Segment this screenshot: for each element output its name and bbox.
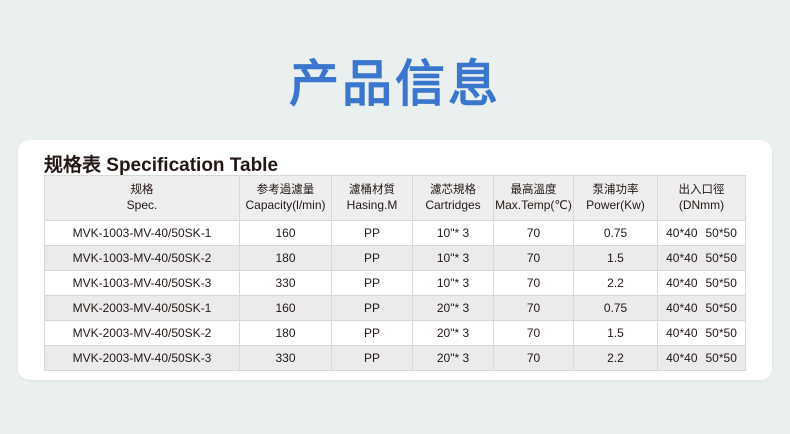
table-header-row: 规格 Spec. 参考過濾量 Capacity(l/min) 濾桶材質 Hasi… — [45, 176, 746, 221]
cell-power: 2.2 — [574, 346, 658, 371]
column-header-dn: 出入口徑 (DNmm) — [658, 176, 746, 221]
cell-cartridges: 20"* 3 — [413, 346, 494, 371]
cell-max-temp: 70 — [494, 221, 574, 246]
cell-dn-b: 50*50 — [706, 326, 737, 340]
cell-spec: MVK-2003-MV-40/50SK-2 — [45, 321, 240, 346]
cell-dn: 40*4050*50 — [658, 221, 746, 246]
column-header-power: 泵浦功率 Power(Kw) — [574, 176, 658, 221]
table-body: MVK-1003-MV-40/50SK-1 160 PP 10"* 3 70 0… — [45, 221, 746, 371]
page-title: 产品信息 — [0, 55, 790, 113]
cell-dn: 40*4050*50 — [658, 296, 746, 321]
cell-power: 2.2 — [574, 271, 658, 296]
cell-spec: MVK-1003-MV-40/50SK-2 — [45, 246, 240, 271]
cell-cartridges: 20"* 3 — [413, 321, 494, 346]
cell-dn-b: 50*50 — [706, 226, 737, 240]
column-header-capacity-cn: 参考過濾量 — [240, 183, 331, 198]
cell-dn-a: 40*40 — [666, 276, 697, 290]
table-row: MVK-1003-MV-40/50SK-3 330 PP 10"* 3 70 2… — [45, 271, 746, 296]
cell-max-temp: 70 — [494, 246, 574, 271]
specification-table-heading: 规格表 Specification Table — [44, 150, 278, 177]
cell-spec: MVK-1003-MV-40/50SK-3 — [45, 271, 240, 296]
column-header-power-en: Power(Kw) — [574, 198, 657, 213]
cell-capacity: 180 — [240, 321, 332, 346]
column-header-max-temp-en: Max.Temp(℃) — [494, 198, 573, 213]
cell-dn: 40*4050*50 — [658, 346, 746, 371]
cell-dn-b: 50*50 — [706, 276, 737, 290]
table-row: MVK-2003-MV-40/50SK-3 330 PP 20"* 3 70 2… — [45, 346, 746, 371]
cell-max-temp: 70 — [494, 346, 574, 371]
cell-dn-b: 50*50 — [706, 351, 737, 365]
cell-dn: 40*4050*50 — [658, 271, 746, 296]
cell-cartridges: 10"* 3 — [413, 246, 494, 271]
cell-capacity: 160 — [240, 221, 332, 246]
cell-dn-b: 50*50 — [706, 301, 737, 315]
cell-dn-a: 40*40 — [666, 301, 697, 315]
cell-max-temp: 70 — [494, 321, 574, 346]
cell-max-temp: 70 — [494, 296, 574, 321]
column-header-hasing: 濾桶材質 Hasing.M — [332, 176, 413, 221]
specification-card: 规格表 Specification Table 规格 Spec. — [18, 140, 772, 380]
cell-dn-a: 40*40 — [666, 251, 697, 265]
column-header-hasing-en: Hasing.M — [332, 198, 412, 213]
table-header: 规格 Spec. 参考過濾量 Capacity(l/min) 濾桶材質 Hasi… — [45, 176, 746, 221]
cell-spec: MVK-2003-MV-40/50SK-1 — [45, 296, 240, 321]
cell-power: 1.5 — [574, 246, 658, 271]
column-header-capacity: 参考過濾量 Capacity(l/min) — [240, 176, 332, 221]
column-header-dn-cn: 出入口徑 — [658, 183, 745, 198]
cell-hasing: PP — [332, 246, 413, 271]
cell-max-temp: 70 — [494, 271, 574, 296]
cell-spec: MVK-1003-MV-40/50SK-1 — [45, 221, 240, 246]
cell-capacity: 330 — [240, 346, 332, 371]
column-header-max-temp-cn: 最高溫度 — [494, 183, 573, 198]
cell-cartridges: 10"* 3 — [413, 221, 494, 246]
cell-hasing: PP — [332, 296, 413, 321]
table-row: MVK-2003-MV-40/50SK-2 180 PP 20"* 3 70 1… — [45, 321, 746, 346]
column-header-max-temp: 最高溫度 Max.Temp(℃) — [494, 176, 574, 221]
column-header-cartridges: 濾芯規格 Cartridges — [413, 176, 494, 221]
column-header-spec-cn: 规格 — [45, 183, 239, 198]
cell-capacity: 160 — [240, 296, 332, 321]
column-header-hasing-cn: 濾桶材質 — [332, 183, 412, 198]
table-row: MVK-1003-MV-40/50SK-2 180 PP 10"* 3 70 1… — [45, 246, 746, 271]
cell-capacity: 330 — [240, 271, 332, 296]
cell-power: 0.75 — [574, 221, 658, 246]
table-row: MVK-1003-MV-40/50SK-1 160 PP 10"* 3 70 0… — [45, 221, 746, 246]
cell-power: 1.5 — [574, 321, 658, 346]
cell-dn: 40*4050*50 — [658, 246, 746, 271]
product-info-page: 产品信息 规格表 Specification Table 规格 Spec. — [0, 0, 790, 434]
cell-hasing: PP — [332, 321, 413, 346]
column-header-cartridges-en: Cartridges — [413, 198, 493, 213]
cell-hasing: PP — [332, 346, 413, 371]
cell-spec: MVK-2003-MV-40/50SK-3 — [45, 346, 240, 371]
specification-table: 规格 Spec. 参考過濾量 Capacity(l/min) 濾桶材質 Hasi… — [44, 175, 746, 371]
cell-dn-b: 50*50 — [706, 251, 737, 265]
column-header-cartridges-cn: 濾芯規格 — [413, 183, 493, 198]
column-header-spec-en: Spec. — [45, 198, 239, 213]
table-row: MVK-2003-MV-40/50SK-1 160 PP 20"* 3 70 0… — [45, 296, 746, 321]
column-header-dn-en: (DNmm) — [658, 198, 745, 213]
cell-power: 0.75 — [574, 296, 658, 321]
cell-hasing: PP — [332, 221, 413, 246]
cell-dn-a: 40*40 — [666, 226, 697, 240]
cell-hasing: PP — [332, 271, 413, 296]
cell-dn-a: 40*40 — [666, 326, 697, 340]
column-header-capacity-en: Capacity(l/min) — [240, 198, 331, 213]
cell-cartridges: 20"* 3 — [413, 296, 494, 321]
cell-capacity: 180 — [240, 246, 332, 271]
column-header-spec: 规格 Spec. — [45, 176, 240, 221]
cell-dn: 40*4050*50 — [658, 321, 746, 346]
cell-dn-a: 40*40 — [666, 351, 697, 365]
cell-cartridges: 10"* 3 — [413, 271, 494, 296]
column-header-power-cn: 泵浦功率 — [574, 183, 657, 198]
